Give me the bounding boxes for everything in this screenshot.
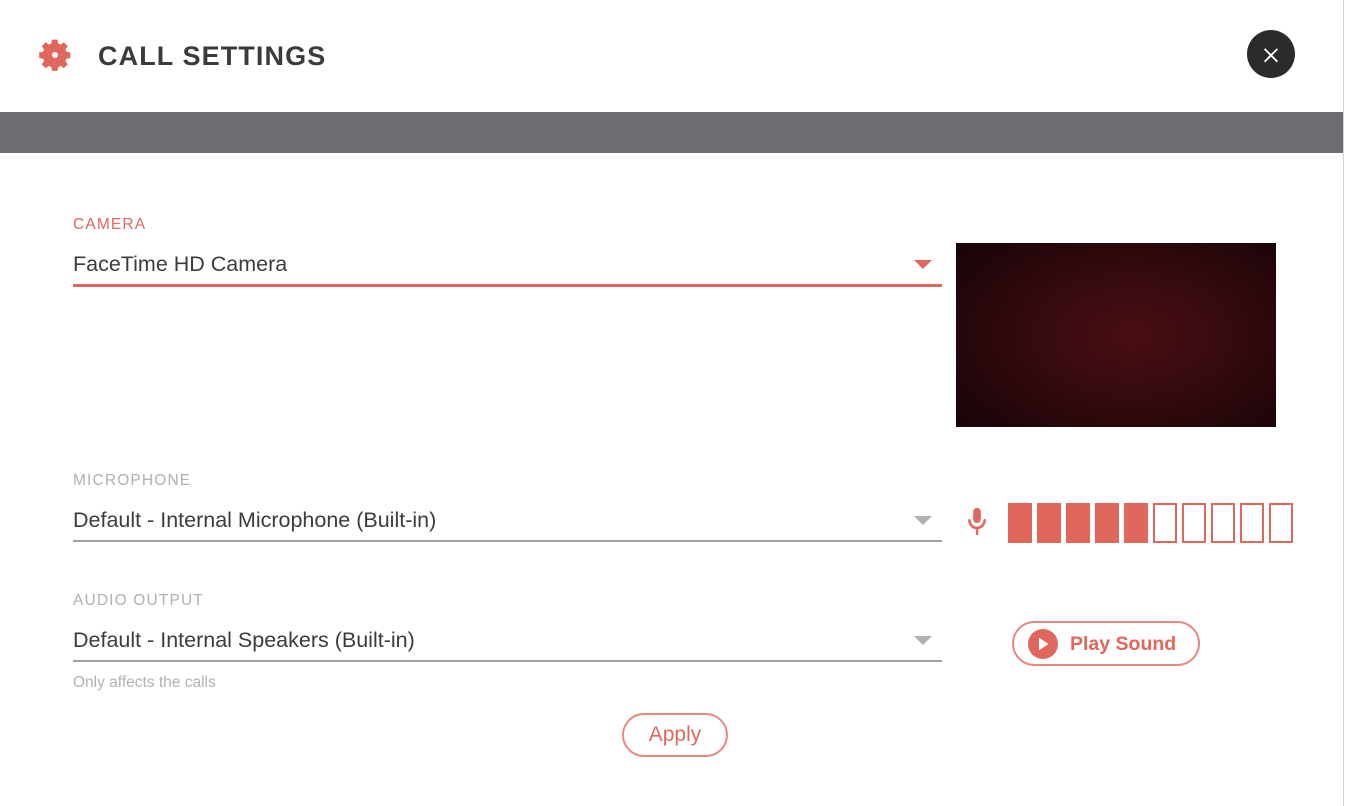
close-icon (1260, 43, 1282, 65)
camera-label: CAMERA (73, 215, 942, 235)
camera-selected-value: FaceTime HD Camera (73, 249, 287, 279)
meter-bar (1153, 503, 1177, 543)
meter-bar (1124, 503, 1148, 543)
settings-body: CAMERA FaceTime HD Camera MICROPHONE Def… (0, 153, 1343, 806)
audio-output-label: AUDIO OUTPUT (73, 591, 942, 611)
microphone-underline (73, 540, 942, 542)
gear-icon (33, 33, 77, 77)
play-sound-label: Play Sound (1070, 632, 1176, 656)
toolbar-band (0, 112, 1343, 153)
camera-select[interactable]: FaceTime HD Camera (73, 242, 942, 279)
meter-bars (1008, 503, 1293, 543)
chevron-down-icon (914, 260, 932, 269)
scrollbar-gutter[interactable] (1343, 0, 1358, 806)
apply-button[interactable]: Apply (622, 713, 728, 757)
microphone-level-meter (962, 500, 1293, 546)
camera-field: CAMERA FaceTime HD Camera (73, 215, 942, 287)
meter-bar (1008, 503, 1032, 543)
camera-preview (956, 243, 1276, 427)
meter-bar (1066, 503, 1090, 543)
microphone-label: MICROPHONE (73, 471, 942, 491)
audio-output-field: AUDIO OUTPUT Default - Internal Speakers… (73, 591, 942, 694)
play-icon (1028, 629, 1058, 659)
audio-output-helper-text: Only affects the calls (73, 672, 942, 694)
audio-output-select[interactable]: Default - Internal Speakers (Built-in) (73, 618, 942, 655)
call-settings-dialog: CALL SETTINGS CAMERA FaceTime HD Camera … (0, 0, 1358, 806)
meter-bar (1182, 503, 1206, 543)
meter-bar (1211, 503, 1235, 543)
meter-bar (1240, 503, 1264, 543)
play-sound-button[interactable]: Play Sound (1012, 621, 1200, 666)
microphone-icon (962, 505, 992, 541)
meter-bar (1269, 503, 1293, 543)
audio-output-selected-value: Default - Internal Speakers (Built-in) (73, 625, 415, 655)
microphone-selected-value: Default - Internal Microphone (Built-in) (73, 505, 436, 535)
meter-bar (1037, 503, 1061, 543)
chevron-down-icon (914, 636, 932, 645)
camera-underline (73, 284, 942, 287)
microphone-field: MICROPHONE Default - Internal Microphone… (73, 471, 942, 542)
meter-bar (1095, 503, 1119, 543)
audio-output-underline (73, 660, 942, 662)
close-button[interactable] (1247, 30, 1295, 78)
microphone-select[interactable]: Default - Internal Microphone (Built-in) (73, 498, 942, 535)
page-title: CALL SETTINGS (98, 36, 326, 76)
dialog-header: CALL SETTINGS (0, 0, 1343, 112)
chevron-down-icon (914, 516, 932, 525)
